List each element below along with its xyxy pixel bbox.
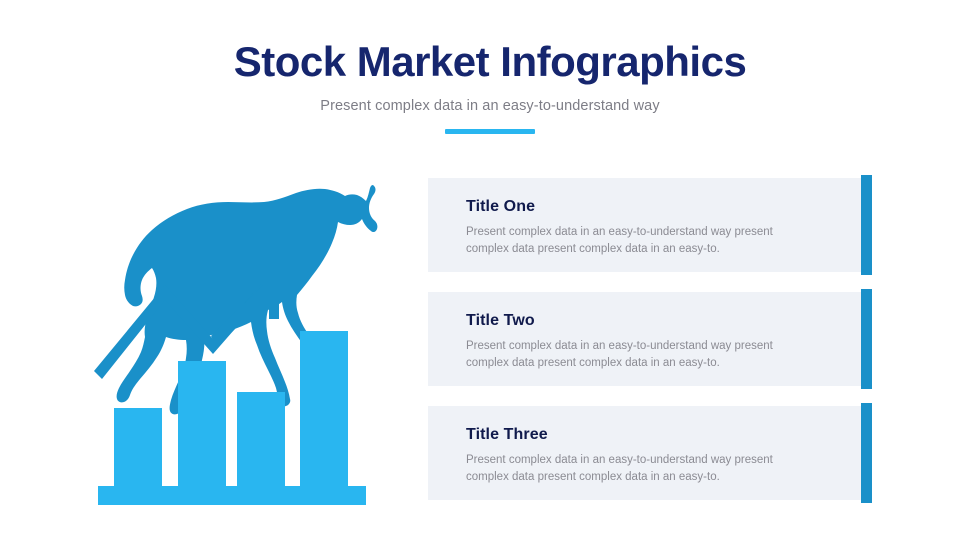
card-title-three: Title Three: [466, 426, 812, 444]
bull-market-illustration: [86, 172, 386, 512]
cards-column: Title One Present complex data in an eas…: [428, 178, 883, 520]
slide-header: Stock Market Infographics Present comple…: [0, 38, 980, 114]
card-title-two: Title Two: [466, 312, 812, 330]
chart-baseline: [98, 486, 366, 505]
card-body-one: Present complex data in an easy-to-under…: [466, 224, 812, 258]
chart-bar-2: [178, 361, 226, 490]
slide-canvas: Stock Market Infographics Present comple…: [0, 0, 980, 551]
card-body-two: Present complex data in an easy-to-under…: [466, 338, 812, 372]
page-subtitle: Present complex data in an easy-to-under…: [0, 98, 980, 114]
bar-chart-bars: [98, 331, 366, 505]
info-card-three[interactable]: Title Three Present complex data in an e…: [428, 406, 872, 500]
card-accent-bar-three: [861, 403, 872, 503]
card-accent-bar-two: [861, 289, 872, 389]
card-accent-bar-one: [861, 175, 872, 275]
chart-bar-3: [237, 392, 285, 490]
title-accent-bar: [445, 129, 535, 134]
info-card-two[interactable]: Title Two Present complex data in an eas…: [428, 292, 872, 386]
card-title-one: Title One: [466, 198, 812, 216]
page-title: Stock Market Infographics: [0, 38, 980, 86]
chart-bar-4: [300, 331, 348, 490]
chart-bar-1: [114, 408, 162, 490]
card-body-three: Present complex data in an easy-to-under…: [466, 452, 812, 486]
info-card-one[interactable]: Title One Present complex data in an eas…: [428, 178, 872, 272]
